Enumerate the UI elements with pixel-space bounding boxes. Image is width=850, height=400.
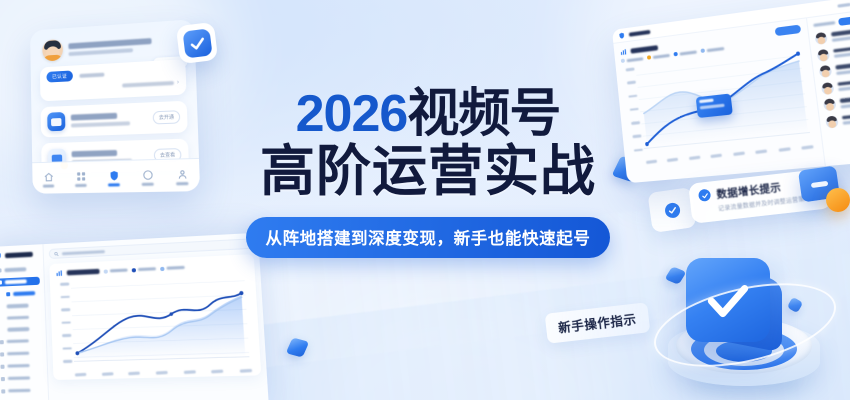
nav-item-home[interactable] (43, 172, 55, 188)
sidebar-item-live[interactable] (0, 336, 42, 346)
sidebar-item-fans[interactable] (0, 301, 41, 310)
avatar (821, 81, 835, 94)
title-year: 2026 (296, 85, 408, 143)
dashboard-main (43, 233, 269, 400)
legend-item[interactable] (701, 46, 725, 53)
more-tasks-label (122, 81, 174, 87)
list-item-subtitle (71, 121, 130, 127)
list-item-action[interactable]: 去开通 (153, 110, 181, 124)
sidebar-item-settings[interactable] (0, 386, 44, 395)
title-name: 视频号 (407, 85, 560, 143)
chart-icon (56, 270, 63, 277)
shield-icon (108, 170, 119, 181)
chevron-right-icon: › (177, 80, 179, 86)
person-icon (176, 169, 188, 181)
nav-item-startup[interactable] (108, 170, 120, 186)
dashboard-card-right (612, 0, 850, 183)
sidebar-nav (0, 265, 44, 396)
avatar (42, 39, 63, 62)
sidebar-item-overview[interactable] (0, 265, 39, 275)
video-account-icon (47, 112, 65, 131)
hero-text-block: 2026视频号 高阶运营实战 从阵地搭建到深度变现，新手也能快速起号 (218, 88, 638, 258)
avatar (817, 48, 831, 61)
line-chart (56, 272, 254, 375)
sidebar-item-private[interactable] (0, 349, 42, 359)
list-item[interactable] (817, 42, 850, 62)
checkin-label (79, 72, 104, 77)
sidebar-item-account-ops[interactable] (0, 277, 40, 287)
bottom-navigation (32, 158, 200, 194)
grid-icon (75, 171, 86, 182)
sidebar-item-content[interactable] (0, 313, 41, 322)
avatar (823, 98, 837, 111)
filter-chip[interactable] (838, 16, 850, 25)
orange-sphere-decor (826, 188, 850, 212)
page-title-line-1: 2026视频号 (296, 88, 561, 141)
avatar (814, 32, 827, 45)
shield-icon (0, 251, 2, 260)
dashboard-main (613, 18, 824, 183)
checkin-row[interactable]: 已认证 › (40, 59, 187, 101)
checkmark-app-icon (176, 22, 218, 64)
legend-item[interactable] (132, 267, 156, 272)
line-chart (622, 45, 816, 165)
dashboard-logo (0, 249, 39, 260)
checkmark-3d-icon (636, 244, 850, 400)
list-item[interactable] (825, 109, 850, 128)
chart-svg (56, 272, 254, 375)
dashboard-sidebar (0, 244, 50, 400)
dashboard-card-left (0, 233, 269, 400)
sidebar-item-team[interactable] (0, 373, 43, 382)
topbar-action[interactable] (837, 3, 850, 8)
promo-banner: 已认证 › 去开通 去查看 (0, 0, 850, 400)
legend-item[interactable] (104, 268, 128, 273)
avatar (819, 65, 833, 78)
home-icon (43, 172, 54, 183)
check-icon (664, 202, 681, 219)
chart-panel (49, 254, 261, 380)
legend-item[interactable] (673, 49, 696, 56)
check-circle-icon (698, 189, 711, 202)
list-item[interactable]: 去开通 (41, 101, 188, 138)
legend-item[interactable] (621, 56, 644, 63)
legend-item[interactable] (160, 265, 185, 270)
list-item[interactable] (821, 75, 850, 94)
account-name (68, 38, 151, 49)
dashboard-logo-text (629, 29, 651, 36)
export-report-button[interactable] (775, 25, 802, 37)
verified-tag: 已认证 (46, 70, 72, 82)
list-item-title (72, 150, 117, 157)
phone-app-card: 已认证 › 去开通 去查看 (30, 19, 200, 194)
avatar (825, 115, 839, 128)
sidebar-item-monetize[interactable] (0, 325, 42, 334)
nav-item-messages[interactable] (141, 169, 154, 186)
nav-item-profile[interactable] (176, 169, 189, 186)
sidebar-item-assets[interactable] (0, 361, 43, 370)
search-icon (54, 251, 59, 256)
account-subtitle (69, 48, 134, 56)
subtitle-pill: 从阵地搭建到深度变现，新手也能快速起号 (246, 217, 611, 258)
chart-icon (620, 48, 627, 56)
sidebar-item-traffic[interactable] (0, 289, 40, 299)
circle-icon (142, 169, 153, 180)
shield-icon (618, 31, 626, 40)
chart-tooltip (696, 94, 733, 119)
list-item[interactable] (823, 92, 850, 111)
chart-title (630, 45, 658, 54)
list-item[interactable] (819, 58, 850, 78)
chart-title (67, 269, 100, 276)
nav-item-tools[interactable] (75, 171, 87, 187)
legend-item[interactable] (647, 53, 670, 60)
page-title-line-2: 高阶运营实战 (260, 143, 596, 201)
list-item-title (71, 113, 118, 121)
